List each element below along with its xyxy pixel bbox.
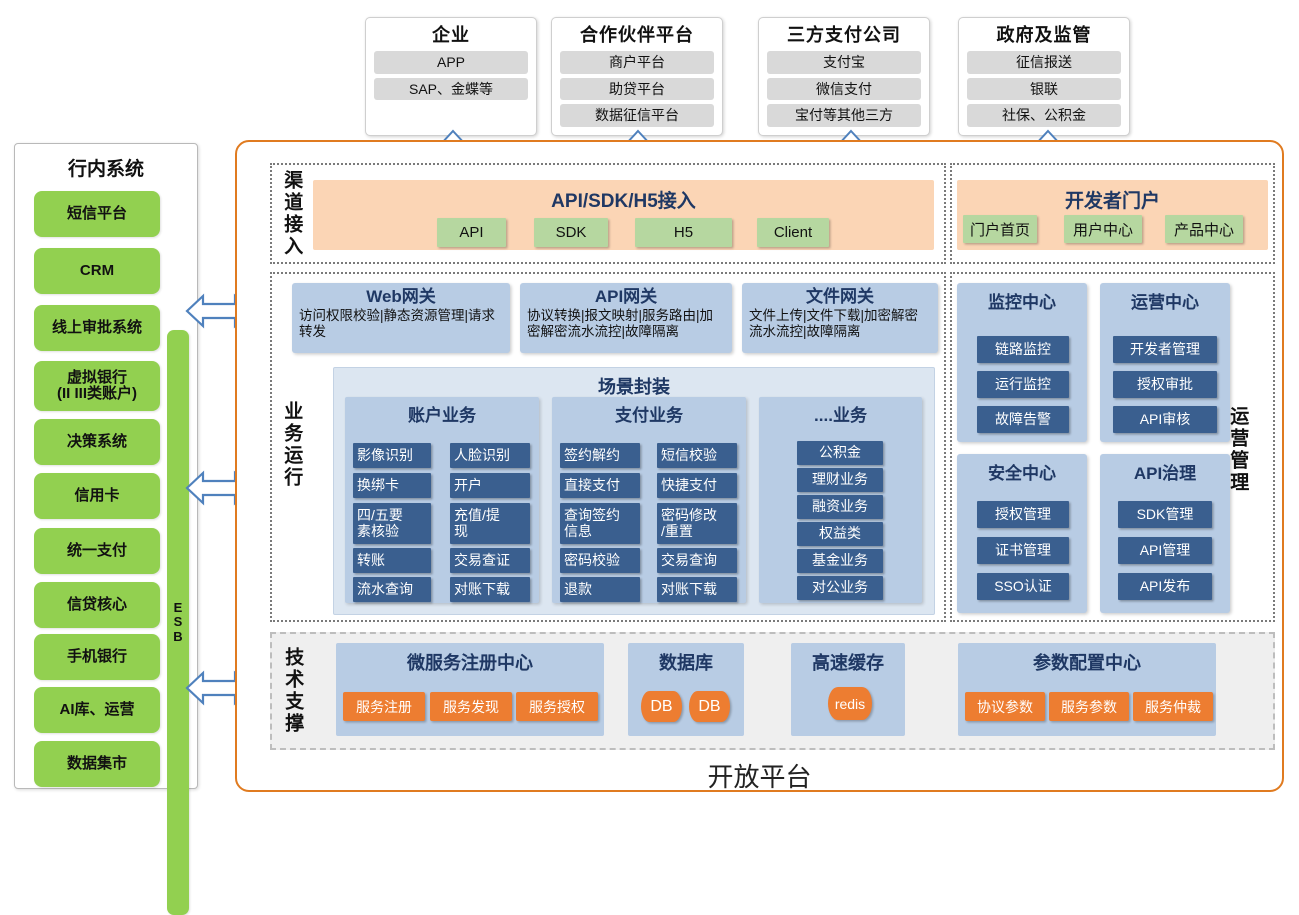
external-item: APP [374, 51, 528, 74]
biz-chip-other[interactable]: 融资业务 [797, 495, 883, 519]
developer-portal-title: 开发者门户 [957, 186, 1268, 213]
technical-support-side-label-text: 技术支撑 [281, 647, 303, 735]
gateway-desc: 协议转换|报文映射|服务路由|加密解密流水流控|故障隔离 [527, 308, 725, 341]
biz-chip-label: 融资业务 [812, 499, 868, 514]
portal-chip-label: 产品中心 [1174, 219, 1234, 240]
tech-card-title: 数据库 [628, 649, 744, 675]
channel-chip-sdk[interactable]: SDK [534, 218, 608, 247]
gateway-card-api: API网关 协议转换|报文映射|服务路由|加密解密流水流控|故障隔离 [520, 283, 732, 353]
biz-chip-account[interactable]: 充值/提 现 [450, 503, 530, 544]
gateway-desc: 访问权限校验|静态资源管理|请求转发 [299, 308, 503, 341]
bank-system-label: CRM [80, 263, 114, 279]
external-box-enterprise: 企业 APP SAP、金蝶等 [365, 17, 537, 136]
bank-system-data-mart[interactable]: 数据集市 [34, 741, 160, 787]
tech-chip-service-register[interactable]: 服务注册 [343, 692, 425, 721]
ops-chip-security[interactable]: 证书管理 [977, 537, 1069, 564]
esb-bar: ESB [167, 330, 189, 915]
biz-chip-payment[interactable]: 短信校验 [657, 443, 737, 468]
api-sdk-h5-band: API/SDK/H5接入 [313, 180, 934, 250]
external-box-title: 企业 [432, 26, 470, 46]
gateway-title: 文件网关 [749, 287, 931, 307]
biz-chip-label: 直接支付 [564, 478, 620, 493]
portal-chip-label: 用户中心 [1073, 219, 1133, 240]
biz-chip-payment[interactable]: 查询签约 信息 [560, 503, 640, 544]
biz-chip-label: 流水查询 [357, 582, 413, 597]
tech-chip-redis[interactable]: redis [828, 687, 872, 720]
bank-system-label: 信用卡 [74, 488, 119, 504]
bank-system-label: 统一支付 [67, 543, 127, 559]
external-box-government-regulator: 政府及监管 征信报送 银联 社保、公积金 [958, 17, 1130, 136]
channel-access-side-label: 渠道接入 [276, 168, 306, 260]
tech-chip-label: DB [650, 698, 672, 716]
biz-chip-label: 人脸识别 [454, 448, 510, 463]
gateway-card-file: 文件网关 文件上传|文件下载|加密解密流水流控|故障隔离 [742, 283, 938, 353]
biz-chip-label: 交易查证 [454, 553, 510, 568]
api-sdk-h5-title: API/SDK/H5接入 [313, 186, 934, 213]
business-card-title: 账户业务 [345, 401, 539, 426]
biz-chip-payment[interactable]: 快捷支付 [657, 473, 737, 498]
bank-system-sms[interactable]: 短信平台 [34, 191, 160, 237]
biz-chip-label: 查询签约 信息 [564, 508, 620, 539]
biz-chip-other[interactable]: 理财业务 [797, 468, 883, 492]
ops-chip-label: 证书管理 [995, 543, 1051, 558]
biz-chip-account[interactable]: 交易查证 [450, 548, 530, 573]
tech-chip-protocol-param[interactable]: 协议参数 [965, 692, 1045, 721]
tech-chip-label: DB [698, 698, 720, 716]
gateway-title: API网关 [527, 287, 725, 307]
ops-chip-label: 授权审批 [1137, 377, 1193, 392]
biz-chip-account[interactable]: 影像识别 [353, 443, 431, 468]
tech-card-title: 微服务注册中心 [336, 649, 604, 675]
bank-system-label: 虚拟银行 (II III类账户) [57, 370, 137, 402]
architecture-diagram: 企业 APP SAP、金蝶等 合作伙伴平台 商户平台 助贷平台 数据征信平台 三… [0, 0, 1299, 799]
bank-system-label: 信贷核心 [67, 597, 127, 613]
ops-chip-label: 授权管理 [995, 507, 1051, 522]
biz-chip-account[interactable]: 换绑卡 [353, 473, 431, 498]
external-item: 征信报送 [967, 51, 1121, 74]
bank-system-mobile-bank[interactable]: 手机银行 [34, 634, 160, 680]
channel-chip-label: SDK [556, 224, 587, 241]
external-item: 宝付等其他三方 [767, 104, 921, 127]
portal-chip-label: 门户首页 [970, 219, 1030, 240]
bank-system-label: 线上审批系统 [52, 320, 142, 336]
bank-system-online-approval[interactable]: 线上审批系统 [34, 305, 160, 351]
scenario-encapsulation-title: 场景封装 [334, 373, 934, 399]
tech-chip-label: 服务参数 [1061, 697, 1117, 717]
biz-chip-label: 开户 [454, 478, 482, 493]
tech-card-database: 数据库 [628, 643, 744, 736]
portal-chip-user-center[interactable]: 用户中心 [1064, 215, 1142, 243]
biz-chip-account[interactable]: 对账下载 [450, 577, 530, 602]
biz-chip-payment[interactable]: 密码修改 /重置 [657, 503, 737, 544]
business-operation-side-label: 业务运行 [276, 380, 306, 510]
bank-system-virtual-bank[interactable]: 虚拟银行 (II III类账户) [34, 361, 160, 411]
ops-chip-security[interactable]: SSO认证 [977, 573, 1069, 600]
channel-access-side-label-text: 渠道接入 [280, 170, 302, 258]
tech-card-title: 参数配置中心 [958, 649, 1216, 675]
platform-title: 开放平台 [235, 757, 1284, 794]
technical-support-side-label: 技术支撑 [277, 637, 307, 745]
bank-system-label: 短信平台 [67, 206, 127, 222]
business-card-title: 支付业务 [552, 401, 746, 426]
tech-chip-label: 服务授权 [529, 697, 585, 717]
bank-system-label: 决策系统 [67, 434, 127, 450]
bank-system-unified-payment[interactable]: 统一支付 [34, 528, 160, 574]
biz-chip-label: 快捷支付 [661, 478, 717, 493]
external-item: 社保、公积金 [967, 104, 1121, 127]
channel-chip-h5[interactable]: H5 [635, 218, 732, 247]
biz-chip-label: 充值/提 现 [454, 508, 500, 539]
ops-chip-api-governance[interactable]: API管理 [1118, 537, 1212, 564]
ops-chip-security[interactable]: 授权管理 [977, 501, 1069, 528]
biz-chip-label: 退款 [564, 582, 592, 597]
tech-chip-label: 服务仲裁 [1145, 697, 1201, 717]
tech-chip-service-param[interactable]: 服务参数 [1049, 692, 1129, 721]
bank-system-credit-card[interactable]: 信用卡 [34, 473, 160, 519]
bank-system-decision[interactable]: 决策系统 [34, 419, 160, 465]
ops-chip-operation-center[interactable]: 开发者管理 [1113, 336, 1217, 363]
ops-chip-label: API审核 [1140, 412, 1191, 427]
external-item: 助贷平台 [560, 78, 714, 101]
ops-chip-label: 故障告警 [995, 412, 1051, 427]
biz-chip-payment[interactable]: 直接支付 [560, 473, 640, 498]
biz-chip-other[interactable]: 对公业务 [797, 576, 883, 600]
biz-chip-payment[interactable]: 密码校验 [560, 548, 640, 573]
esb-label: ESB [173, 601, 182, 645]
bank-system-crm[interactable]: CRM [34, 248, 160, 294]
biz-chip-label: 对公业务 [812, 580, 868, 595]
bank-system-label: 手机银行 [67, 649, 127, 665]
tech-chip-label: redis [835, 696, 865, 712]
tech-chip-service-authorization[interactable]: 服务授权 [516, 692, 598, 721]
portal-chip-home[interactable]: 门户首页 [963, 215, 1037, 243]
ops-chip-operation-center[interactable]: 授权审批 [1113, 371, 1217, 398]
ops-chip-label: 链路监控 [995, 342, 1051, 357]
biz-chip-label: 换绑卡 [357, 478, 399, 493]
ops-chip-label: API管理 [1140, 543, 1191, 558]
channel-chip-label: API [459, 224, 483, 241]
external-box-partner-platform: 合作伙伴平台 商户平台 助贷平台 数据征信平台 [551, 17, 723, 136]
biz-chip-account[interactable]: 开户 [450, 473, 530, 498]
tech-card-parameter-config: 参数配置中心 [958, 643, 1216, 736]
gateway-title: Web网关 [299, 287, 503, 307]
bank-system-credit-core[interactable]: 信贷核心 [34, 582, 160, 628]
business-card-title: ....业务 [759, 401, 922, 426]
bank-system-ai-ops[interactable]: AI库、运营 [34, 687, 160, 733]
ops-card-title: API治理 [1100, 459, 1230, 484]
bank-system-label: AI库、运营 [59, 702, 134, 718]
external-item: SAP、金蝶等 [374, 78, 528, 101]
in-bank-systems-title: 行内系统 [15, 154, 197, 181]
biz-chip-account[interactable]: 人脸识别 [450, 443, 530, 468]
biz-chip-account[interactable]: 流水查询 [353, 577, 431, 602]
channel-chip-label: Client [774, 224, 812, 241]
tech-card-microservice-registry: 微服务注册中心 [336, 643, 604, 736]
ops-card-title: 运营中心 [1100, 288, 1230, 313]
ops-chip-label: SSO认证 [994, 579, 1052, 594]
ops-chip-label: API发布 [1140, 579, 1191, 594]
biz-chip-label: 基金业务 [812, 553, 868, 568]
portal-chip-product-center[interactable]: 产品中心 [1165, 215, 1243, 243]
tech-chip-label: 服务发现 [443, 697, 499, 717]
ops-chip-label: SDK管理 [1137, 507, 1194, 522]
tech-card-title: 高速缓存 [791, 649, 905, 675]
biz-chip-payment[interactable]: 对账下载 [657, 577, 737, 602]
tech-chip-service-arbitration[interactable]: 服务仲裁 [1133, 692, 1213, 721]
external-box-third-party-payment: 三方支付公司 支付宝 微信支付 宝付等其他三方 [758, 17, 930, 136]
tech-chip-db-primary[interactable]: DB [641, 691, 682, 722]
biz-chip-label: 对账下载 [661, 582, 717, 597]
biz-chip-label: 短信校验 [661, 448, 717, 463]
gateway-card-web: Web网关 访问权限校验|静态资源管理|请求转发 [292, 283, 510, 353]
external-box-title: 合作伙伴平台 [580, 26, 694, 46]
biz-chip-account[interactable]: 转账 [353, 548, 431, 573]
ops-chip-monitoring[interactable]: 故障告警 [977, 406, 1069, 433]
external-item: 银联 [967, 78, 1121, 101]
business-operation-side-label-text: 业务运行 [280, 401, 302, 489]
biz-chip-label: 签约解约 [564, 448, 620, 463]
tech-chip-db-secondary[interactable]: DB [689, 691, 730, 722]
channel-chip-api[interactable]: API [437, 218, 506, 247]
biz-chip-other[interactable]: 权益类 [797, 522, 883, 546]
external-item: 数据征信平台 [560, 104, 714, 127]
tech-chip-service-discovery[interactable]: 服务发现 [430, 692, 512, 721]
biz-chip-label: 密码校验 [564, 553, 620, 568]
external-box-title: 三方支付公司 [787, 26, 901, 46]
ops-card-title: 监控中心 [957, 288, 1087, 313]
biz-chip-payment[interactable]: 退款 [560, 577, 640, 602]
external-item: 商户平台 [560, 51, 714, 74]
ops-chip-label: 运行监控 [995, 377, 1051, 392]
biz-chip-other[interactable]: 基金业务 [797, 549, 883, 573]
biz-chip-other[interactable]: 公积金 [797, 441, 883, 465]
ops-chip-label: 开发者管理 [1130, 342, 1200, 357]
biz-chip-label: 转账 [357, 553, 385, 568]
biz-chip-label: 四/五要 素核验 [357, 508, 403, 539]
biz-chip-label: 密码修改 /重置 [661, 508, 717, 539]
biz-chip-payment[interactable]: 交易查询 [657, 548, 737, 573]
biz-chip-label: 交易查询 [661, 553, 717, 568]
tech-chip-label: 协议参数 [977, 697, 1033, 717]
ops-chip-monitoring[interactable]: 运行监控 [977, 371, 1069, 398]
external-item: 支付宝 [767, 51, 921, 74]
ops-chip-operation-center[interactable]: API审核 [1113, 406, 1217, 433]
biz-chip-label: 影像识别 [357, 448, 413, 463]
bank-system-label: 数据集市 [67, 756, 127, 772]
ops-chip-api-governance[interactable]: API发布 [1118, 573, 1212, 600]
biz-chip-label: 公积金 [819, 445, 861, 460]
biz-chip-label: 对账下载 [454, 582, 510, 597]
external-item: 微信支付 [767, 78, 921, 101]
ops-chip-monitoring[interactable]: 链路监控 [977, 336, 1069, 363]
biz-chip-label: 理财业务 [812, 472, 868, 487]
tech-chip-label: 服务注册 [356, 697, 412, 717]
channel-chip-label: H5 [674, 224, 693, 241]
channel-chip-client[interactable]: Client [757, 218, 829, 247]
external-box-title: 政府及监管 [997, 26, 1092, 46]
biz-chip-account[interactable]: 四/五要 素核验 [353, 503, 431, 544]
ops-chip-api-governance[interactable]: SDK管理 [1118, 501, 1212, 528]
gateway-desc: 文件上传|文件下载|加密解密流水流控|故障隔离 [749, 308, 931, 341]
ops-card-title: 安全中心 [957, 459, 1087, 484]
biz-chip-payment[interactable]: 签约解约 [560, 443, 640, 468]
biz-chip-label: 权益类 [819, 526, 861, 541]
